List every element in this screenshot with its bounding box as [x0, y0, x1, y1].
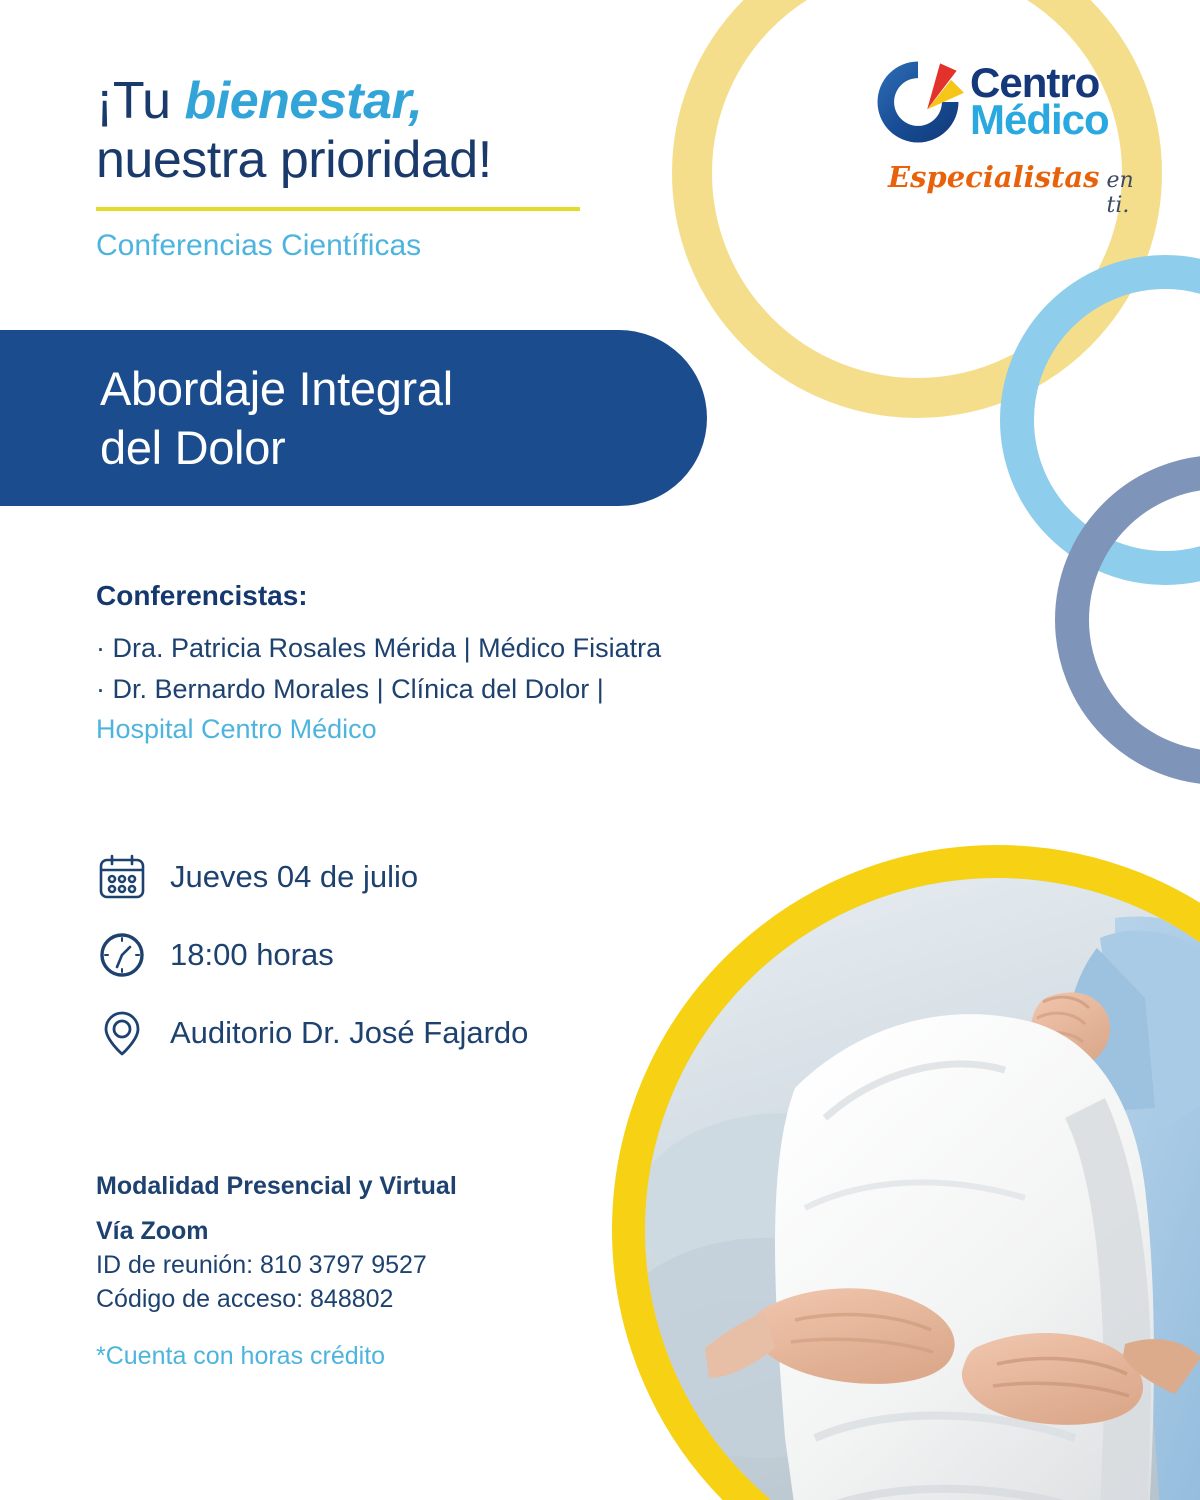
event-detail-time: 18:00 horas: [96, 916, 528, 994]
page-title: ¡Tu bienestar, nuestra prioridad!: [96, 72, 716, 191]
speakers-heading: Conferencistas:: [96, 580, 856, 612]
headline-divider: [96, 207, 580, 211]
headline-line2: nuestra prioridad!: [96, 131, 492, 189]
event-location-text: Auditorio Dr. José Fajardo: [170, 1015, 528, 1051]
modality-block: Modalidad Presencial y Virtual Vía Zoom …: [96, 1172, 616, 1371]
speakers-block: Conferencistas: · Dra. Patricia Rosales …: [96, 580, 856, 750]
poster-canvas: ¡Tu bienestar, nuestra prioridad! Confer…: [0, 0, 1200, 1500]
speaker-item: · Dr. Bernardo Morales | Clínica del Dol…: [96, 669, 856, 710]
speakers-affiliation: Hospital Centro Médico: [96, 709, 856, 750]
calendar-icon: [96, 851, 148, 903]
event-details-block: Jueves 04 de julio 18:00 horas Audit: [96, 838, 528, 1072]
headline-block: ¡Tu bienestar, nuestra prioridad! Confer…: [96, 72, 716, 263]
logo-tagline-script: Especialistas: [888, 160, 1100, 194]
logo-name-medico: Médico: [970, 102, 1109, 139]
modality-meeting-id: ID de reunión: 810 3797 9527: [96, 1248, 616, 1282]
modality-platform: Vía Zoom: [96, 1217, 616, 1246]
conference-title: Abordaje Integral del Dolor: [0, 359, 453, 477]
logo-tagline: Especialistas en ti.: [888, 160, 1128, 218]
headline-line1-prefix: ¡Tu: [96, 72, 185, 130]
event-time-text: 18:00 horas: [170, 937, 334, 973]
brand-logo: Centro Médico Especialistas en ti.: [872, 56, 1128, 218]
headline-line1-accent: bienestar,: [185, 72, 423, 130]
clock-icon: [96, 929, 148, 981]
patient-with-back-pain-and-clinician-photo: [645, 878, 1200, 1500]
event-date-text: Jueves 04 de julio: [170, 859, 418, 895]
modality-access-code: Código de acceso: 848802: [96, 1282, 616, 1316]
logo-wordmark: Centro Médico: [970, 65, 1109, 139]
event-detail-location: Auditorio Dr. José Fajardo: [96, 994, 528, 1072]
conference-title-line1: Abordaje Integral: [100, 362, 453, 415]
modality-heading: Modalidad Presencial y Virtual: [96, 1172, 616, 1201]
modality-credit-note: *Cuenta con horas crédito: [96, 1342, 616, 1371]
centro-medico-ring-bolt-icon: [872, 56, 964, 148]
location-pin-icon: [96, 1007, 148, 1059]
logo-tagline-rest: en ti.: [1107, 168, 1134, 218]
logo-row: Centro Médico: [872, 56, 1128, 148]
speaker-item: · Dra. Patricia Rosales Mérida | Médico …: [96, 628, 856, 669]
headline-subtitle: Conferencias Científicas: [96, 229, 716, 263]
conference-title-line2: del Dolor: [100, 421, 285, 474]
conference-title-banner: Abordaje Integral del Dolor: [0, 330, 707, 506]
event-detail-date: Jueves 04 de julio: [96, 838, 528, 916]
event-photo-frame: [612, 845, 1200, 1500]
